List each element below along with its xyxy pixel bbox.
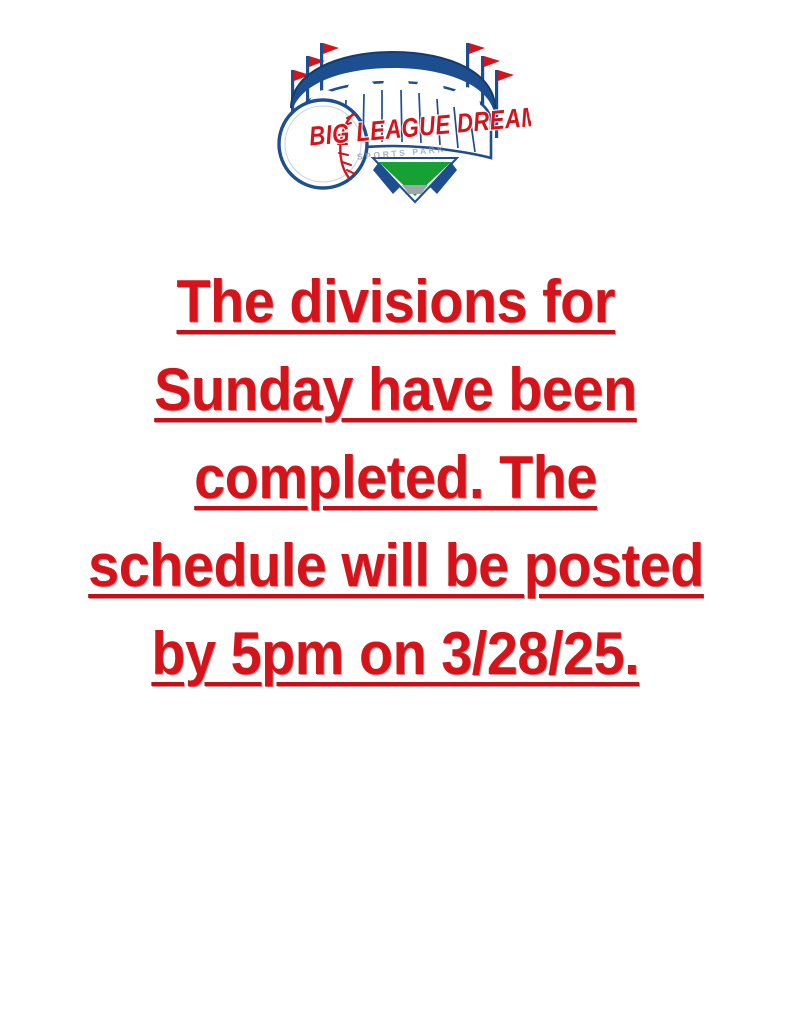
announcement-line-1: The divisions for bbox=[176, 258, 615, 346]
announcement-page: BIG LEAGUE DREAMS SPORTS PARK The divisi… bbox=[0, 0, 791, 1024]
baseball-diamond-field-icon bbox=[373, 158, 457, 202]
announcement-line-5: by 5pm on 3/28/25. bbox=[152, 610, 640, 698]
announcement-line-3: completed. The bbox=[194, 434, 597, 522]
big-league-dreams-logo: BIG LEAGUE DREAMS SPORTS PARK bbox=[261, 26, 531, 208]
logo-graphic: BIG LEAGUE DREAMS SPORTS PARK bbox=[261, 26, 531, 208]
announcement-line-2: Sunday have been bbox=[154, 346, 637, 434]
announcement-text: The divisions for Sunday have been compl… bbox=[46, 258, 746, 698]
announcement-line-4: schedule will be posted bbox=[88, 522, 704, 610]
